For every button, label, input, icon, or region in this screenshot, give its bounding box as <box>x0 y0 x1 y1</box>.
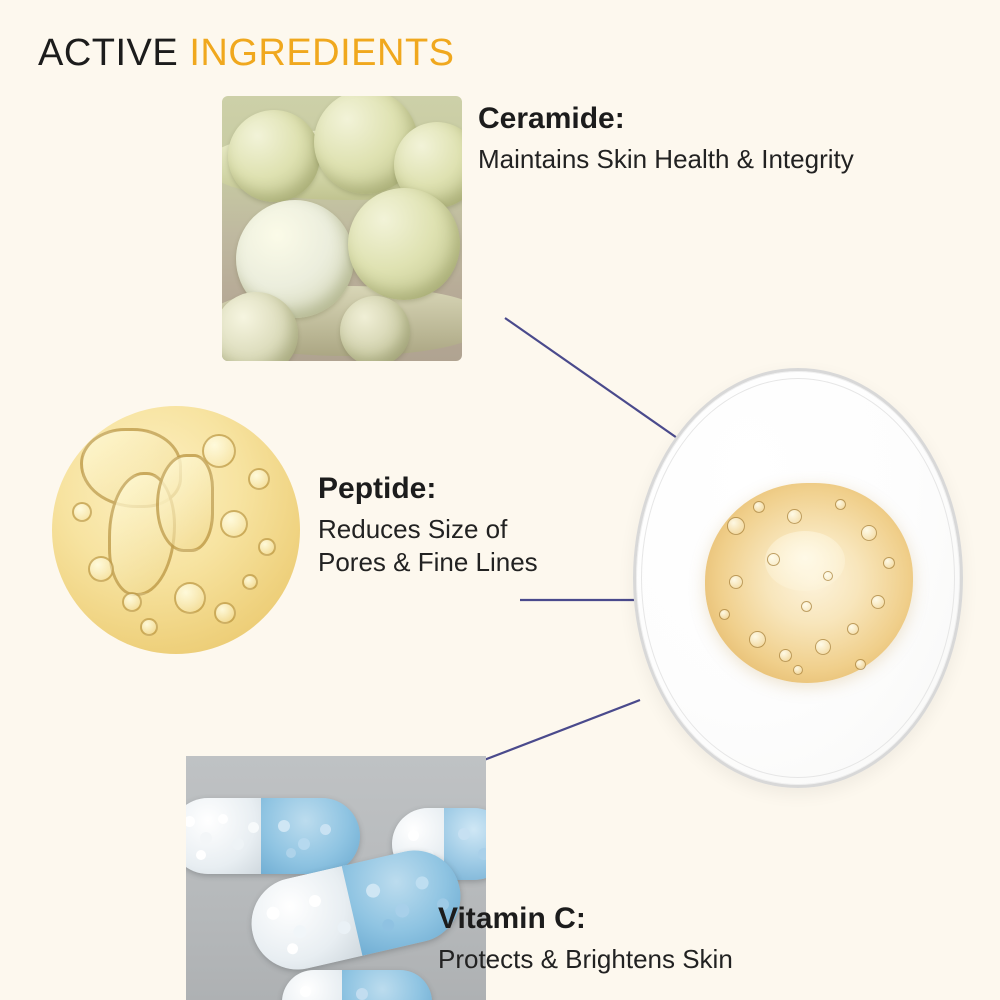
ceramide-bubbles-photo <box>222 96 462 361</box>
peptide-description-line-2: Pores & Fine Lines <box>318 546 538 579</box>
page-title: ACTIVE INGREDIENTS <box>38 32 455 75</box>
vitamin-c-description: Protects & Brightens Skin <box>438 943 733 976</box>
peptide-label-block: Peptide: Reduces Size of Pores & Fine Li… <box>318 472 538 580</box>
peptide-gel-photo <box>52 406 300 654</box>
peptide-description-line-1: Reduces Size of <box>318 513 538 546</box>
title-word-ingredients: INGREDIENTS <box>189 32 454 74</box>
title-word-active: ACTIVE <box>38 32 178 74</box>
ceramide-description: Maintains Skin Health & Integrity <box>478 143 854 176</box>
vitamin-c-label-block: Vitamin C: Protects & Brightens Skin <box>438 902 733 976</box>
serum-drop <box>705 483 913 683</box>
ceramide-label-block: Ceramide: Maintains Skin Health & Integr… <box>478 102 854 176</box>
peptide-title: Peptide: <box>318 472 538 505</box>
ceramide-title: Ceramide: <box>478 102 854 135</box>
serum-drop-in-petri-dish <box>633 368 963 788</box>
poster-canvas: ACTIVE INGREDIENTS <box>0 0 1000 1000</box>
vitamin-c-title: Vitamin C: <box>438 902 733 935</box>
